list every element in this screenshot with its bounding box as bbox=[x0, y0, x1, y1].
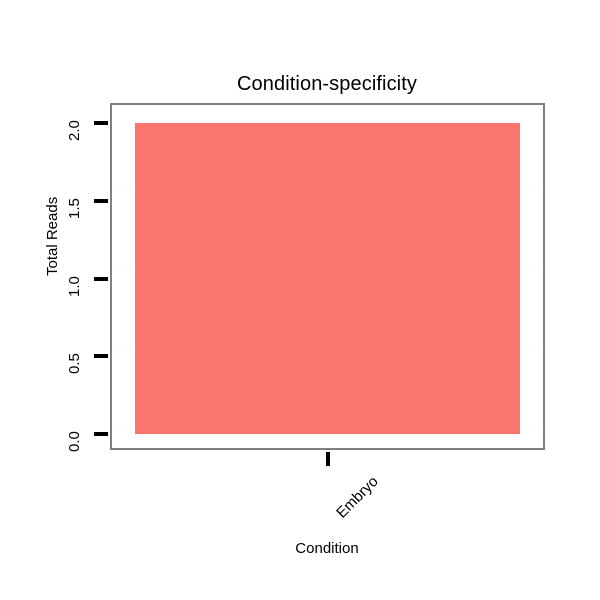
y-axis-tick-label: 1.0 bbox=[66, 276, 83, 297]
y-axis-tick-mark bbox=[94, 432, 108, 436]
plot-panel bbox=[110, 103, 545, 450]
x-axis-tick-mark bbox=[326, 452, 330, 466]
y-axis-tick-mark bbox=[94, 277, 108, 281]
y-axis-tick-label: 0.0 bbox=[66, 431, 83, 452]
y-axis-tick-mark bbox=[94, 199, 108, 203]
chart-title-text: Condition-specificity bbox=[237, 72, 417, 96]
bar bbox=[135, 123, 521, 434]
x-axis-title: Condition bbox=[0, 540, 600, 557]
x-axis-tick-label: Embryo bbox=[333, 473, 382, 522]
chart-figure: Condition-specificity 0.00.51.01.52.0 Em… bbox=[0, 0, 600, 600]
x-axis-title-text: Condition bbox=[295, 540, 358, 557]
y-axis-title: Total Reads bbox=[44, 197, 61, 276]
chart-title: Condition-specificity bbox=[0, 72, 600, 96]
plot-panel-background bbox=[112, 105, 543, 448]
y-axis-tick-label: 2.0 bbox=[66, 120, 83, 141]
y-axis-tick-label: 0.5 bbox=[66, 353, 83, 374]
y-axis-tick-label: 1.5 bbox=[66, 198, 83, 219]
y-axis-tick-mark bbox=[94, 354, 108, 358]
y-axis-tick-mark bbox=[94, 121, 108, 125]
